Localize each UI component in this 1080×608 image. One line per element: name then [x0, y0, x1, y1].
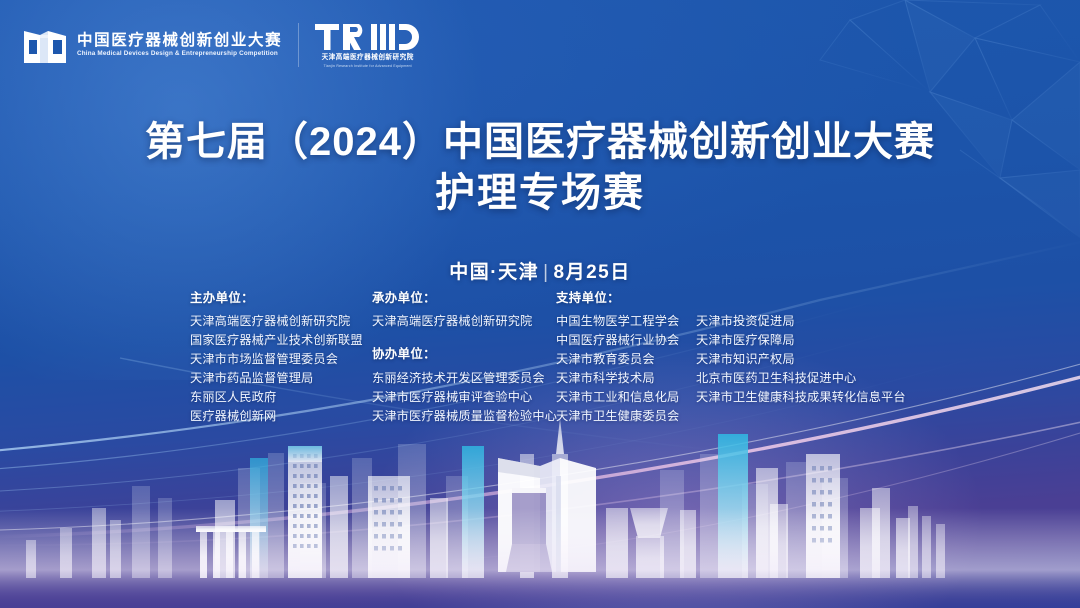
logo-divider — [298, 23, 299, 67]
title-line-1: 第七届（2024）中国医疗器械创新创业大赛 — [0, 118, 1080, 167]
org-item: 东丽经济技术开发区管理委员会 — [372, 369, 556, 388]
org-item: 北京市医药卫生科技促进中心 — [696, 369, 902, 388]
org-item: 天津市医疗器械质量监督检验中心 — [372, 407, 556, 426]
org-item: 天津市市场监督管理委员会 — [190, 350, 372, 369]
org-item: 医疗器械创新网 — [190, 407, 372, 426]
org-heading-organizer: 承办单位： — [372, 292, 556, 304]
org-column-gap — [372, 331, 556, 348]
org-heading-host: 主办单位： — [190, 292, 372, 304]
org-item: 天津市科学技术局 — [556, 369, 686, 388]
logo-cmdc-cn: 中国医疗器械创新创业大赛 — [77, 33, 282, 49]
org-item: 天津市知识产权局 — [696, 350, 902, 369]
org-supporter-left: 中国生物医学工程学会 中国医疗器械行业协会 天津市教育委员会 天津市科学技术局 … — [556, 312, 686, 426]
door-mark-icon — [22, 23, 68, 67]
logo-bar: 中国医疗器械创新创业大赛 China Medical Devices Desig… — [22, 22, 420, 68]
org-item: 天津市医疗保障局 — [696, 331, 902, 350]
poster-canvas: 中国医疗器械创新创业大赛 China Medical Devices Desig… — [0, 0, 1080, 608]
org-item: 天津高端医疗器械创新研究院 — [372, 312, 556, 331]
org-item: 国家医疗器械产业技术创新联盟 — [190, 331, 372, 350]
subtitle-date: 8月25日 — [554, 262, 631, 283]
logo-triid-en: Tianjin Research Institute for Advanced … — [324, 65, 412, 68]
org-column-host: 主办单位： 天津高端医疗器械创新研究院 国家医疗器械产业技术创新联盟 天津市市场… — [190, 292, 372, 426]
org-item: 天津市工业和信息化局 — [556, 388, 686, 407]
poster-subtitle: 中国·天津|8月25日 — [0, 257, 1080, 284]
gate-landmark — [498, 458, 596, 572]
org-heading-co-organizer: 协办单位： — [372, 348, 556, 360]
organizations-block: 主办单位： 天津高端医疗器械创新研究院 国家医疗器械产业技术创新联盟 天津市市场… — [190, 292, 902, 426]
org-heading-supporter: 支持单位： — [556, 292, 902, 304]
poster-title: 第七届（2024）中国医疗器械创新创业大赛 护理专场赛 — [0, 118, 1080, 218]
title-line-2: 护理专场赛 — [0, 169, 1080, 218]
org-item: 天津高端医疗器械创新研究院 — [190, 312, 372, 331]
org-item: 天津市卫生健康科技成果转化信息平台 — [696, 388, 902, 407]
triid-wordmark-icon — [315, 22, 420, 52]
subtitle-location: 中国·天津 — [449, 262, 539, 283]
org-supporter-right: 天津市投资促进局 天津市医疗保障局 天津市知识产权局 北京市医药卫生科技促进中心… — [696, 312, 902, 426]
org-item: 中国生物医学工程学会 — [556, 312, 686, 331]
logo-cmdc-en: China Medical Devices Design & Entrepren… — [77, 51, 286, 57]
org-item: 中国医疗器械行业协会 — [556, 331, 686, 350]
org-column-organizer: 承办单位： 天津高端医疗器械创新研究院 协办单位： 东丽经济技术开发区管理委员会… — [372, 292, 556, 426]
logo-triid-cn: 天津高端医疗器械创新研究院 — [322, 55, 414, 62]
org-item: 天津市药品监督管理局 — [190, 369, 372, 388]
org-item: 天津市卫生健康委员会 — [556, 407, 686, 426]
org-item: 天津市投资促进局 — [696, 312, 902, 331]
logo-china-medical-devices[interactable]: 中国医疗器械创新创业大赛 China Medical Devices Desig… — [22, 23, 282, 67]
org-item: 东丽区人民政府 — [190, 388, 372, 407]
logo-triid[interactable]: 天津高端医疗器械创新研究院 Tianjin Research Institute… — [315, 22, 420, 68]
org-item: 天津市医疗器械审评查验中心 — [372, 388, 556, 407]
subtitle-separator: | — [539, 262, 553, 283]
org-column-supporter: 支持单位： 中国生物医学工程学会 中国医疗器械行业协会 天津市教育委员会 天津市… — [556, 292, 902, 426]
org-item: 天津市教育委员会 — [556, 350, 686, 369]
